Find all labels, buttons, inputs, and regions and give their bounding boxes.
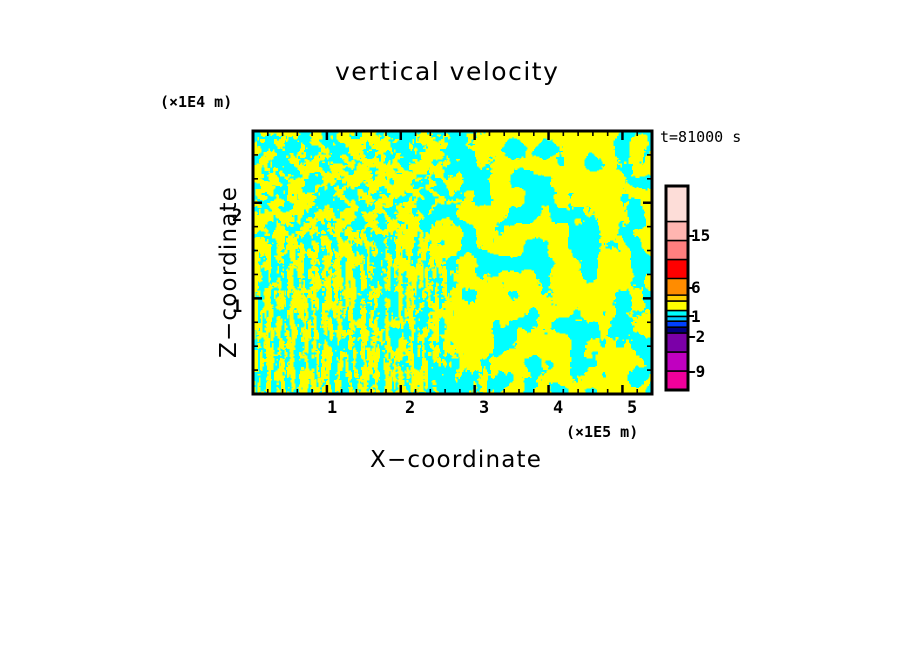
colorbar (666, 186, 688, 391)
colorbar-band (666, 301, 688, 311)
colorbar-band (666, 222, 688, 241)
colorbar-band (666, 352, 688, 371)
velocity-field (253, 131, 652, 394)
colorbar-band (666, 260, 688, 279)
colorbar-band (666, 279, 688, 296)
contour-plot-svg (0, 0, 904, 654)
figure-canvas: vertical velocity (×1E4 m) (×1E5 m) t=81… (0, 0, 904, 654)
colorbar-band (666, 371, 688, 390)
colorbar-band (666, 241, 688, 260)
colorbar-band (666, 333, 688, 352)
colorbar-band (666, 186, 688, 222)
